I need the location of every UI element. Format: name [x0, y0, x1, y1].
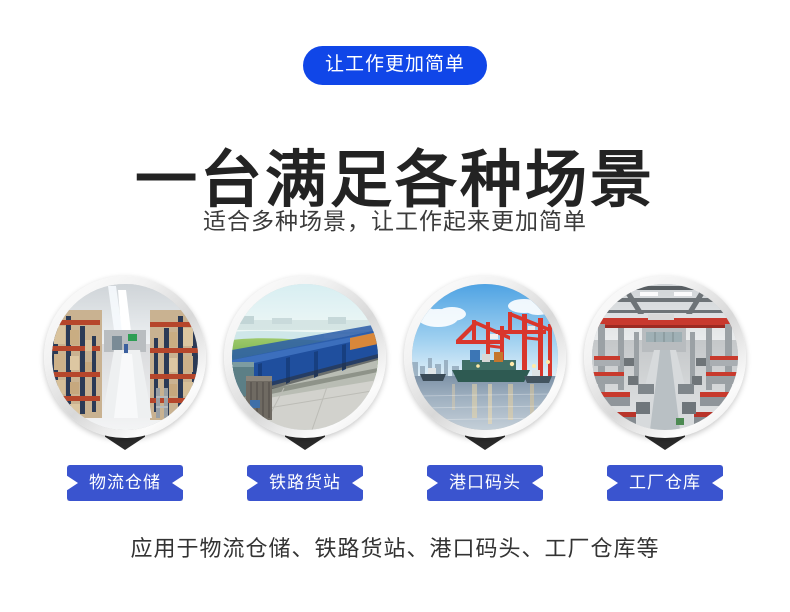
scene-card-list: 物流仓储: [0, 276, 790, 516]
scene-image-clip: [592, 284, 738, 430]
scene-card: 工厂仓库: [583, 276, 747, 514]
footer-caption: 应用于物流仓储、铁路货站、港口码头、工厂仓库等: [0, 536, 790, 562]
scene-circle-frame: [44, 276, 206, 438]
scene-card: 铁路货站: [223, 276, 387, 514]
page-title: 一台满足各种场景: [0, 146, 790, 215]
pill-container: 让工作更加简单: [0, 46, 790, 85]
scene-badge: 港口码头: [427, 465, 543, 501]
port-terminal-photo: [412, 284, 558, 430]
promo-banner-page: 让工作更加简单 一台满足各种场景 适合多种场景，让工作起来更加简单: [0, 0, 790, 612]
scene-image-clip: [232, 284, 378, 430]
scene-badge: 物流仓储: [67, 465, 183, 501]
scene-circle-frame: [584, 276, 746, 438]
scene-card: 港口码头: [403, 276, 567, 514]
factory-workshop-photo: [592, 284, 738, 430]
scene-image-clip: [52, 284, 198, 430]
railway-freight-photo: [232, 284, 378, 430]
scene-image-clip: [412, 284, 558, 430]
tagline-pill: 让工作更加简单: [303, 46, 487, 85]
scene-badge: 工厂仓库: [607, 465, 723, 501]
page-subtitle: 适合多种场景，让工作起来更加简单: [0, 208, 790, 236]
scene-circle-frame: [404, 276, 566, 438]
scene-badge: 铁路货站: [247, 465, 363, 501]
warehouse-aisle-photo: [52, 284, 198, 430]
scene-card: 物流仓储: [43, 276, 207, 514]
scene-circle-frame: [224, 276, 386, 438]
